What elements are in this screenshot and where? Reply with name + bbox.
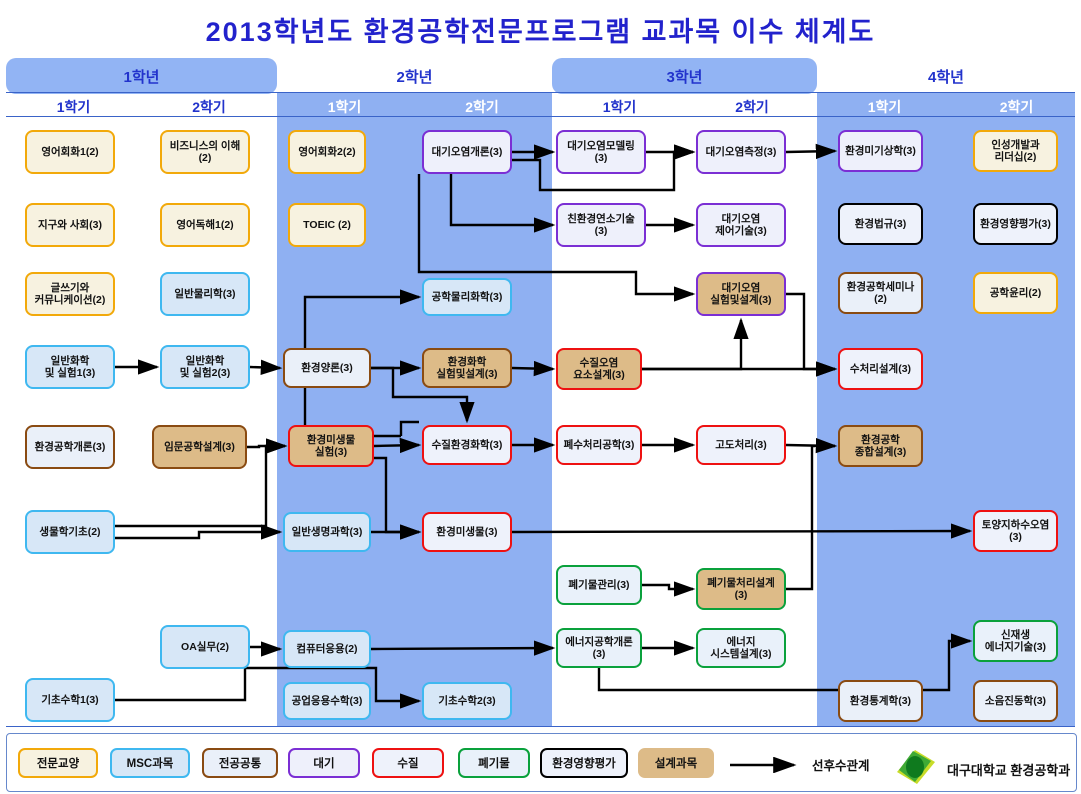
legend-arrow-label: 선후수관계 bbox=[812, 755, 870, 774]
course-name: 수처리설계(3) bbox=[850, 363, 911, 375]
divider-line-2 bbox=[6, 726, 1075, 727]
legend-item-label: 전공공통 bbox=[219, 755, 261, 771]
semester-label-2: 2학기 bbox=[141, 97, 277, 117]
connector bbox=[115, 532, 280, 538]
course-box-leadership[interactable]: 인성개발과 리더십(2) bbox=[973, 130, 1058, 172]
course-box-cdesign[interactable]: 임문공학설계(3) bbox=[152, 425, 247, 469]
course-box-indmath[interactable]: 공업응용수학(3) bbox=[283, 682, 371, 720]
legend-item-5[interactable]: 폐기물 bbox=[458, 748, 530, 778]
course-box-writing[interactable]: 글쓰기와 커뮤니케이션(2) bbox=[25, 272, 115, 316]
course-name: 환경화학 실험및설계(3) bbox=[436, 356, 497, 381]
course-name: 폐기물처리설계 (3) bbox=[707, 577, 775, 602]
course-box-waterchem[interactable]: 수질환경화학(3) bbox=[422, 425, 512, 465]
course-name: OA실무(2) bbox=[181, 641, 229, 653]
legend-item-label: 대기 bbox=[313, 755, 334, 771]
course-name: 지구와 사회(3) bbox=[38, 219, 102, 231]
course-box-noise[interactable]: 소음진동학(3) bbox=[973, 680, 1058, 722]
course-name: 폐수처리공학(3) bbox=[564, 439, 635, 451]
course-box-seminar[interactable]: 환경공학세미나 (2) bbox=[838, 272, 923, 314]
course-name: 공업응용수학(3) bbox=[292, 695, 363, 707]
course-box-energyintro[interactable]: 에너지공학개론 (3) bbox=[556, 628, 642, 668]
year-header-label: 2학년 bbox=[397, 66, 433, 87]
semester-label-3: 1학기 bbox=[277, 97, 412, 117]
year-header-label: 1학년 bbox=[124, 66, 160, 87]
course-box-ethics[interactable]: 공학윤리(2) bbox=[973, 272, 1058, 314]
legend-item-label: 환경영향평가 bbox=[552, 755, 615, 771]
course-name: 에너지 시스템설계(3) bbox=[710, 636, 771, 661]
course-box-energysys[interactable]: 에너지 시스템설계(3) bbox=[696, 628, 786, 668]
course-name: 임문공학설계(3) bbox=[164, 441, 235, 453]
semester-label-8: 2학기 bbox=[952, 97, 1081, 117]
legend-item-label: 수질 bbox=[397, 755, 418, 771]
course-box-comp[interactable]: 컴퓨터응용(2) bbox=[283, 630, 371, 668]
year-header-label: 4학년 bbox=[928, 66, 964, 87]
legend-item-label: 전문교양 bbox=[37, 755, 79, 771]
year-header-3: 3학년 bbox=[552, 58, 817, 94]
course-box-math1[interactable]: 기초수학1(3) bbox=[25, 678, 115, 722]
course-box-genlife[interactable]: 일반생명과학(3) bbox=[283, 512, 371, 552]
course-name: TOEIC (2) bbox=[303, 219, 351, 231]
course-box-waterproc[interactable]: 폐수처리공학(3) bbox=[556, 425, 642, 465]
course-box-capstone[interactable]: 환경공학 종합설계(3) bbox=[838, 425, 923, 467]
course-name: 환경공학개론(3) bbox=[35, 441, 106, 453]
course-box-eia[interactable]: 환경영향평가(3) bbox=[973, 203, 1058, 245]
course-box-toeic[interactable]: TOEIC (2) bbox=[288, 203, 366, 247]
connector bbox=[250, 647, 280, 649]
course-name: 대기오염측정(3) bbox=[706, 146, 777, 158]
course-name: 환경공학 종합설계(3) bbox=[855, 434, 906, 459]
semester-label-5: 1학기 bbox=[552, 97, 687, 117]
legend-item-1[interactable]: MSC과목 bbox=[110, 748, 190, 778]
course-box-envsci[interactable]: 환경양론(3) bbox=[283, 348, 371, 388]
course-name: 환경공학세미나 (2) bbox=[847, 281, 915, 306]
legend-item-0[interactable]: 전문교양 bbox=[18, 748, 98, 778]
year-header-4: 4학년 bbox=[817, 58, 1075, 94]
course-name: 에너지공학개론 (3) bbox=[565, 636, 633, 661]
curriculum-diagram: 2013학년도 환경공학전문프로그램 교과목 이수 체계도 1학년2학년3학년4… bbox=[0, 0, 1081, 794]
course-name: 환경미생물(3) bbox=[436, 526, 497, 538]
legend-item-label: 폐기물 bbox=[478, 755, 510, 771]
legend-arrow-icon bbox=[728, 757, 810, 773]
course-box-airmodel[interactable]: 대기오염모델링 (3) bbox=[556, 130, 646, 174]
year-header-label: 3학년 bbox=[667, 66, 703, 87]
course-box-soilgw[interactable]: 토양지하수오염 (3) bbox=[973, 510, 1058, 552]
semester-label-7: 1학기 bbox=[817, 97, 952, 117]
course-name: 환경미생물 실험(3) bbox=[307, 434, 355, 459]
semester-label-4: 2학기 bbox=[412, 97, 552, 117]
course-name: 환경영향평가(3) bbox=[980, 218, 1051, 230]
course-name: 일반물리학(3) bbox=[174, 288, 235, 300]
course-box-advproc[interactable]: 고도처리(3) bbox=[696, 425, 786, 465]
course-name: 영어독해1(2) bbox=[176, 219, 233, 231]
course-box-airintro[interactable]: 대기오염개론(3) bbox=[422, 130, 512, 174]
course-name: 고도처리(3) bbox=[715, 439, 766, 451]
semester-label-1: 1학기 bbox=[6, 97, 141, 117]
course-box-biobasic[interactable]: 생물학기초(2) bbox=[25, 510, 115, 554]
course-box-engread1[interactable]: 영어독해1(2) bbox=[160, 203, 250, 247]
legend-item-label: MSC과목 bbox=[127, 755, 174, 771]
course-box-engphyschem[interactable]: 공학물리화학(3) bbox=[422, 278, 512, 316]
course-box-phys[interactable]: 일반물리학(3) bbox=[160, 272, 250, 316]
connector bbox=[250, 367, 280, 368]
course-name: 환경통계학(3) bbox=[850, 695, 911, 707]
course-name: 기초수학1(3) bbox=[41, 694, 98, 706]
legend-item-6[interactable]: 환경영향평가 bbox=[540, 748, 628, 778]
course-box-envlaw[interactable]: 환경법규(3) bbox=[838, 203, 923, 245]
course-name: 일반생명과학(3) bbox=[292, 526, 363, 538]
course-name: 소음진동학(3) bbox=[985, 695, 1046, 707]
course-box-micromet[interactable]: 환경미기상학(3) bbox=[838, 130, 923, 172]
course-name: 환경법규(3) bbox=[855, 218, 906, 230]
course-name: 생물학기초(2) bbox=[39, 526, 100, 538]
divider-line-0 bbox=[6, 92, 1075, 93]
course-name: 대기오염 실험및설계(3) bbox=[710, 282, 771, 307]
connector bbox=[642, 585, 693, 589]
course-box-wastemgmt[interactable]: 폐기물관리(3) bbox=[556, 565, 642, 605]
course-name: 일반화학 및 실험1(3) bbox=[45, 355, 96, 380]
course-name: 환경미기상학(3) bbox=[845, 145, 916, 157]
course-box-airlab[interactable]: 대기오염 실험및설계(3) bbox=[696, 272, 786, 316]
page-title: 2013학년도 환경공학전문프로그램 교과목 이수 체계도 bbox=[0, 10, 1081, 49]
legend-item-7[interactable]: 설계과목 bbox=[638, 748, 714, 778]
course-box-chem1[interactable]: 일반화학 및 실험1(3) bbox=[25, 345, 115, 389]
course-box-renewable[interactable]: 신재생 에너지기술(3) bbox=[973, 620, 1058, 662]
course-name: 컴퓨터응용(2) bbox=[296, 643, 357, 655]
course-name: 대기오염 제어기술(3) bbox=[715, 213, 766, 238]
course-box-math2[interactable]: 기초수학2(3) bbox=[422, 682, 512, 720]
course-box-biz[interactable]: 비즈니스의 이해 (2) bbox=[160, 130, 250, 174]
year-header-2: 2학년 bbox=[277, 58, 552, 94]
legend-item-2[interactable]: 전공공통 bbox=[202, 748, 278, 778]
course-name: 인성개발과 리더십(2) bbox=[991, 139, 1039, 164]
course-box-ecotech[interactable]: 친환경연소기술 (3) bbox=[556, 203, 646, 247]
course-name: 수질오염 요소설계(3) bbox=[573, 357, 624, 382]
course-name: 비즈니스의 이해 (2) bbox=[170, 140, 241, 165]
course-box-envintro[interactable]: 환경공학개론(3) bbox=[25, 425, 115, 469]
course-box-eng2[interactable]: 영어회화2(2) bbox=[288, 130, 366, 174]
course-box-eng1[interactable]: 영어회화1(2) bbox=[25, 130, 115, 174]
course-name: 수질환경화학(3) bbox=[432, 439, 503, 451]
course-box-envchemlab[interactable]: 환경화학 실험및설계(3) bbox=[422, 348, 512, 388]
course-name: 공학물리화학(3) bbox=[432, 291, 503, 303]
course-box-waterdesign[interactable]: 수질오염 요소설계(3) bbox=[556, 348, 642, 390]
course-box-oa[interactable]: OA실무(2) bbox=[160, 625, 250, 669]
university-logo-icon bbox=[893, 748, 939, 786]
course-name: 대기오염개론(3) bbox=[432, 146, 503, 158]
course-box-waterfac[interactable]: 수처리설계(3) bbox=[838, 348, 923, 390]
course-name: 영어회화2(2) bbox=[298, 146, 355, 158]
course-name: 환경양론(3) bbox=[301, 362, 352, 374]
course-name: 공학윤리(2) bbox=[990, 287, 1041, 299]
course-box-wastedesign[interactable]: 폐기물처리설계 (3) bbox=[696, 568, 786, 610]
course-box-envmicro[interactable]: 환경미생물(3) bbox=[422, 512, 512, 552]
course-name: 신재생 에너지기술(3) bbox=[985, 629, 1046, 654]
course-box-airmeasure[interactable]: 대기오염측정(3) bbox=[696, 130, 786, 174]
course-name: 대기오염모델링 (3) bbox=[567, 140, 635, 165]
course-box-earth[interactable]: 지구와 사회(3) bbox=[25, 203, 115, 247]
course-name: 기초수학2(3) bbox=[438, 695, 495, 707]
legend-item-label: 설계과목 bbox=[655, 755, 697, 771]
legend-item-3[interactable]: 대기 bbox=[288, 748, 360, 778]
course-box-chem2[interactable]: 일반화학 및 실험2(3) bbox=[160, 345, 250, 389]
course-box-airctrl[interactable]: 대기오염 제어기술(3) bbox=[696, 203, 786, 247]
course-name: 친환경연소기술 (3) bbox=[567, 213, 635, 238]
year-header-1: 1학년 bbox=[6, 58, 277, 94]
course-name: 폐기물관리(3) bbox=[568, 579, 629, 591]
course-name: 토양지하수오염 (3) bbox=[982, 519, 1050, 544]
semester-label-6: 2학기 bbox=[687, 97, 817, 117]
legend-item-4[interactable]: 수질 bbox=[372, 748, 444, 778]
university-logo-label: 대구대학교 환경공학과 bbox=[947, 760, 1070, 779]
connector bbox=[642, 320, 741, 369]
course-box-envstat[interactable]: 환경통계학(3) bbox=[838, 680, 923, 722]
course-box-envmicrolab[interactable]: 환경미생물 실험(3) bbox=[288, 425, 374, 467]
course-name: 글쓰기와 커뮤니케이션(2) bbox=[35, 282, 106, 307]
course-name: 일반화학 및 실험2(3) bbox=[180, 355, 231, 380]
course-name: 영어회화1(2) bbox=[41, 146, 98, 158]
